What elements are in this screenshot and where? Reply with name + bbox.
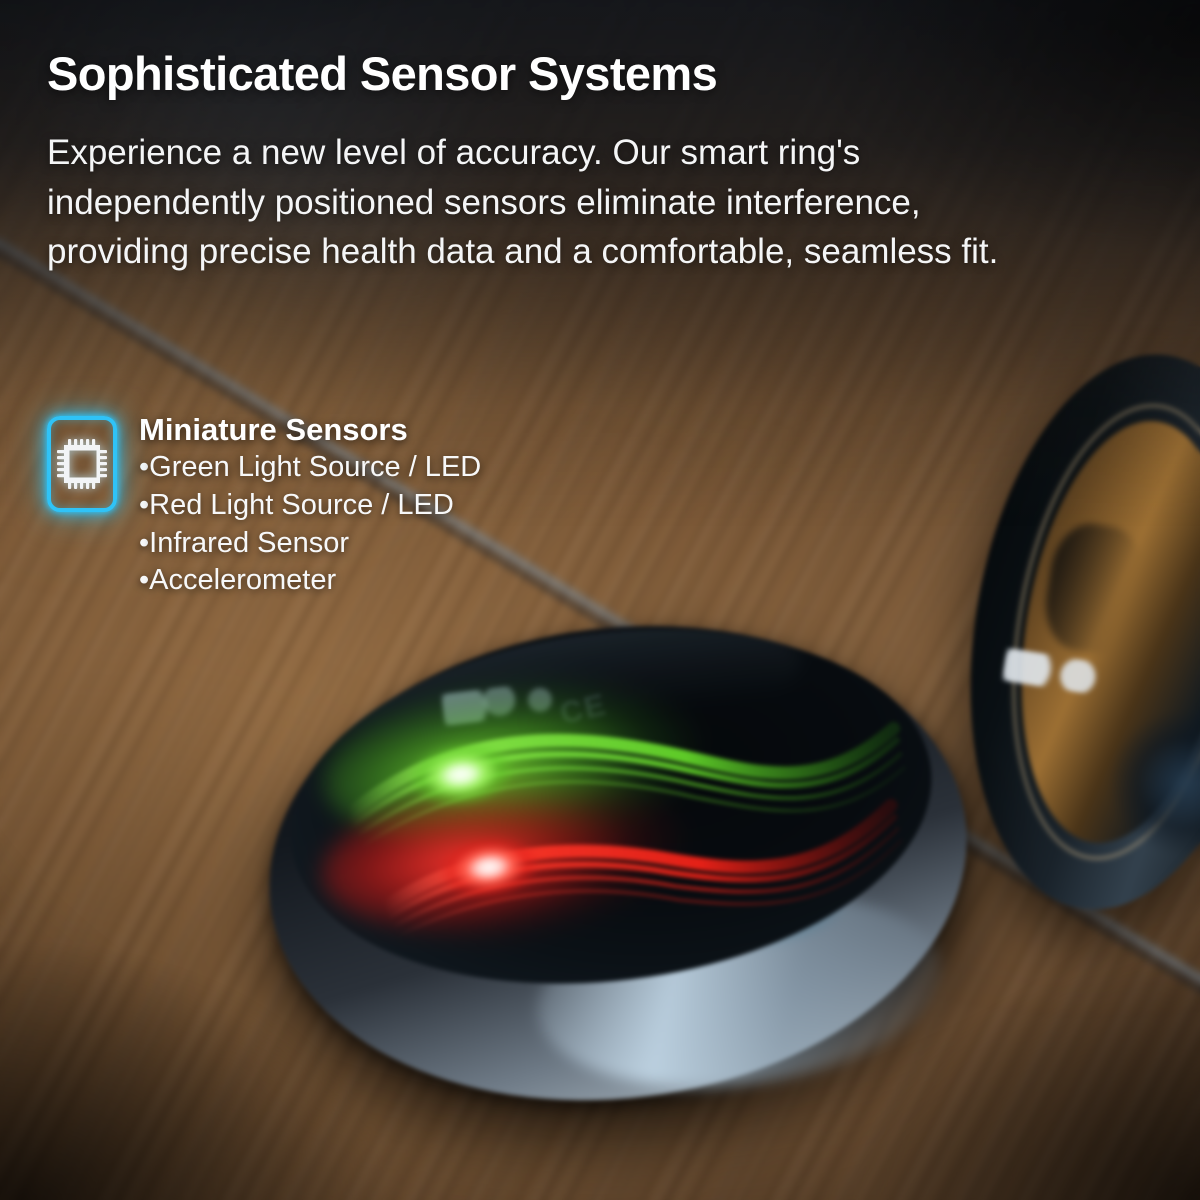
feature-block: Miniature Sensors •Green Light Source / … <box>47 412 687 600</box>
bullet-icon: • <box>139 451 149 483</box>
list-item: •Infrared Sensor <box>139 525 687 563</box>
list-item: •Accelerometer <box>139 562 687 600</box>
list-item-label: Infrared Sensor <box>149 527 349 559</box>
promo-graphic: CE <box>0 0 1200 1200</box>
sensor-list: •Green Light Source / LED •Red Light Sou… <box>139 449 687 600</box>
list-item-label: Red Light Source / LED <box>149 489 454 521</box>
page-title: Sophisticated Sensor Systems <box>47 49 1057 99</box>
feature-title: Miniature Sensors <box>139 412 687 447</box>
list-item: •Green Light Source / LED <box>139 449 687 487</box>
feature-icon-badge <box>47 416 117 512</box>
bullet-icon: • <box>139 527 149 559</box>
list-item: •Red Light Source / LED <box>139 487 687 525</box>
subheading-copy: Experience a new level of accuracy. Our … <box>47 128 1057 277</box>
bullet-icon: • <box>139 489 149 521</box>
list-item-label: Green Light Source / LED <box>149 451 481 483</box>
cpu-chip-icon <box>56 437 108 491</box>
content-overlay: Sophisticated Sensor Systems Experience … <box>0 0 1200 1200</box>
list-item-label: Accelerometer <box>149 564 336 596</box>
bullet-icon: • <box>139 564 149 596</box>
feature-text: Miniature Sensors •Green Light Source / … <box>139 412 687 600</box>
